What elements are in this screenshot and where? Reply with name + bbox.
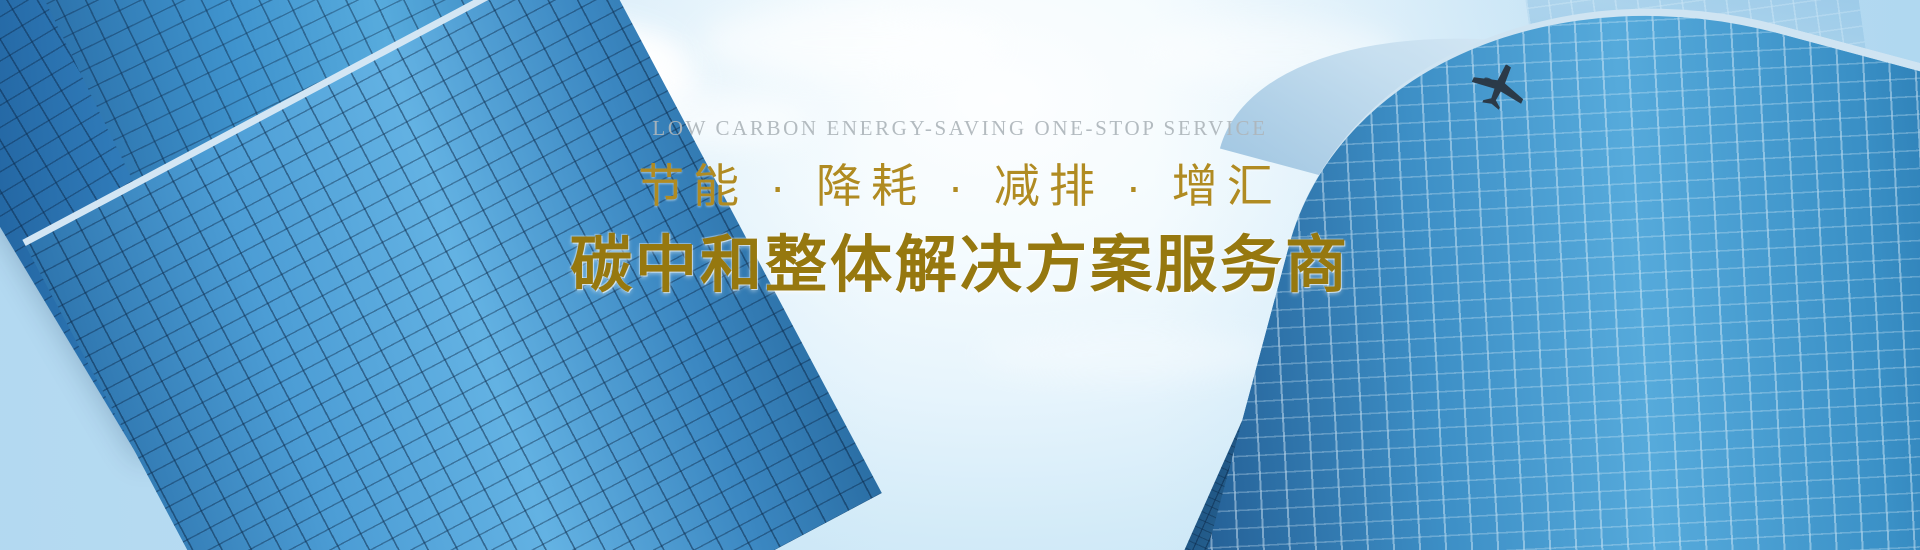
- banner-headline: 碳中和整体解决方案服务商: [0, 235, 1920, 297]
- airplane-icon: [1468, 58, 1534, 112]
- hero-banner: LOW CARBON ENERGY-SAVING ONE-STOP SERVIC…: [0, 0, 1920, 550]
- banner-eyebrow: LOW CARBON ENERGY-SAVING ONE-STOP SERVIC…: [0, 118, 1920, 139]
- banner-text-block: LOW CARBON ENERGY-SAVING ONE-STOP SERVIC…: [0, 118, 1920, 297]
- banner-subtitle: 节能 · 降耗 · 减排 · 增汇: [0, 163, 1920, 209]
